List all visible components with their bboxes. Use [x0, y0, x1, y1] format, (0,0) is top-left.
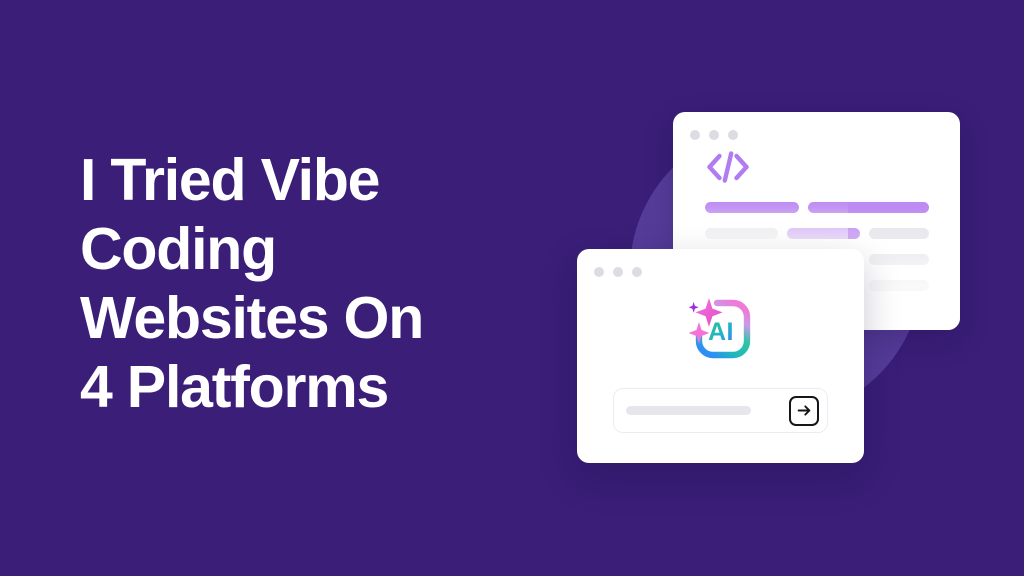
code-bar [869, 254, 929, 265]
code-bar [787, 228, 860, 239]
code-brackets-icon [705, 150, 751, 184]
dot-yellow-icon [613, 267, 623, 277]
dot-green-icon [632, 267, 642, 277]
dot-yellow-icon [709, 130, 719, 140]
arrow-right-icon [796, 402, 813, 419]
page-title: I Tried Vibe Coding Websites On 4 Platfo… [80, 146, 510, 422]
code-bar [705, 228, 778, 239]
code-bar [705, 202, 799, 213]
prompt-placeholder-bar [626, 406, 751, 415]
code-bar [869, 280, 929, 291]
code-line-row [705, 228, 929, 239]
ai-sparkle-badge-icon: AI [681, 296, 761, 362]
dot-red-icon [690, 130, 700, 140]
code-line-row [705, 202, 929, 213]
svg-text:AI: AI [708, 318, 734, 346]
dot-red-icon [594, 267, 604, 277]
code-bar [808, 202, 929, 213]
code-window-traffic-lights [690, 130, 738, 140]
ai-window: AI Send [577, 249, 864, 463]
code-bar [869, 228, 929, 239]
hero-banner: I Tried Vibe Coding Websites On 4 Platfo… [0, 0, 1024, 576]
prompt-input[interactable]: Send [613, 388, 828, 433]
ai-window-traffic-lights [594, 267, 642, 277]
send-prompt-button[interactable] [789, 396, 819, 426]
dot-green-icon [728, 130, 738, 140]
